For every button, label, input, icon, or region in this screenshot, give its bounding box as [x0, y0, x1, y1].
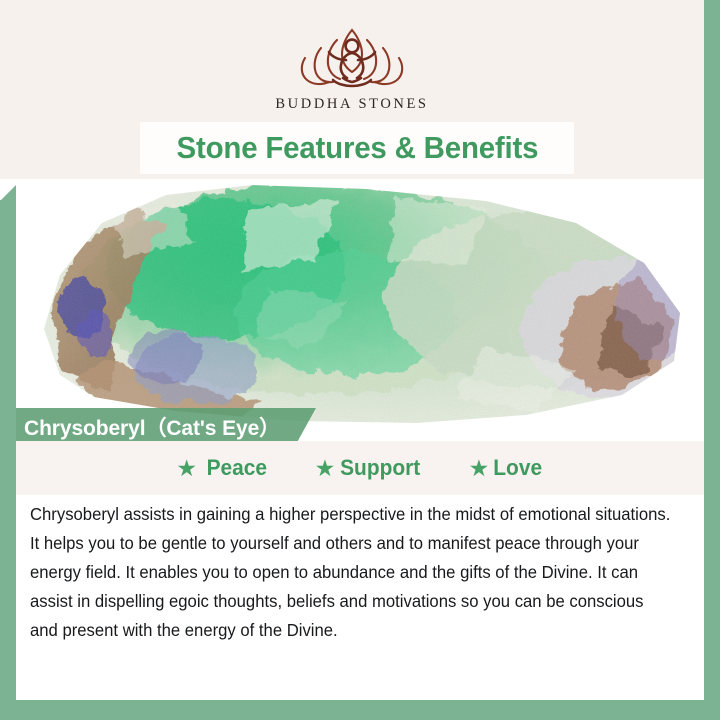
- header-panel: BUDDHA STONES Stone Features & Benefits: [0, 0, 704, 179]
- stone-name-band: Chrysoberyl（Cat's Eye）: [16, 408, 316, 441]
- brand-block: BUDDHA STONES: [0, 20, 704, 113]
- benefit-peace: ★ Peace: [176, 455, 268, 481]
- frame-band-right: [704, 0, 720, 720]
- stone-photo: Chrysoberyl（Cat's Eye）: [16, 179, 704, 441]
- frame-band-bottom: [0, 700, 720, 720]
- frame-band-left: [0, 200, 16, 720]
- benefit-label: Peace: [207, 455, 267, 481]
- benefit-label: Love: [494, 455, 543, 481]
- star-icon: ★: [176, 457, 197, 480]
- benefit-support: ★ Support: [315, 455, 423, 481]
- benefit-love: ★ Love: [469, 455, 544, 481]
- stone-info-card: BUDDHA STONES Stone Features & Benefits: [0, 0, 720, 720]
- title-strip: Stone Features & Benefits: [140, 122, 574, 174]
- star-icon: ★: [469, 457, 490, 480]
- star-icon: ★: [315, 457, 336, 480]
- lotus-meditation-icon: [277, 20, 427, 92]
- stone-name: Chrysoberyl（Cat's Eye）: [16, 412, 280, 441]
- benefits-row: ★ Peace ★ Support ★ Love: [16, 441, 704, 495]
- page-title: Stone Features & Benefits: [176, 130, 538, 166]
- frame-band-left-bevel: [0, 185, 16, 201]
- benefit-label: Support: [340, 455, 420, 481]
- stone-photo-image: [16, 179, 704, 441]
- stone-description: Chrysoberyl assists in gaining a higher …: [30, 500, 672, 645]
- brand-name: BUDDHA STONES: [275, 96, 428, 113]
